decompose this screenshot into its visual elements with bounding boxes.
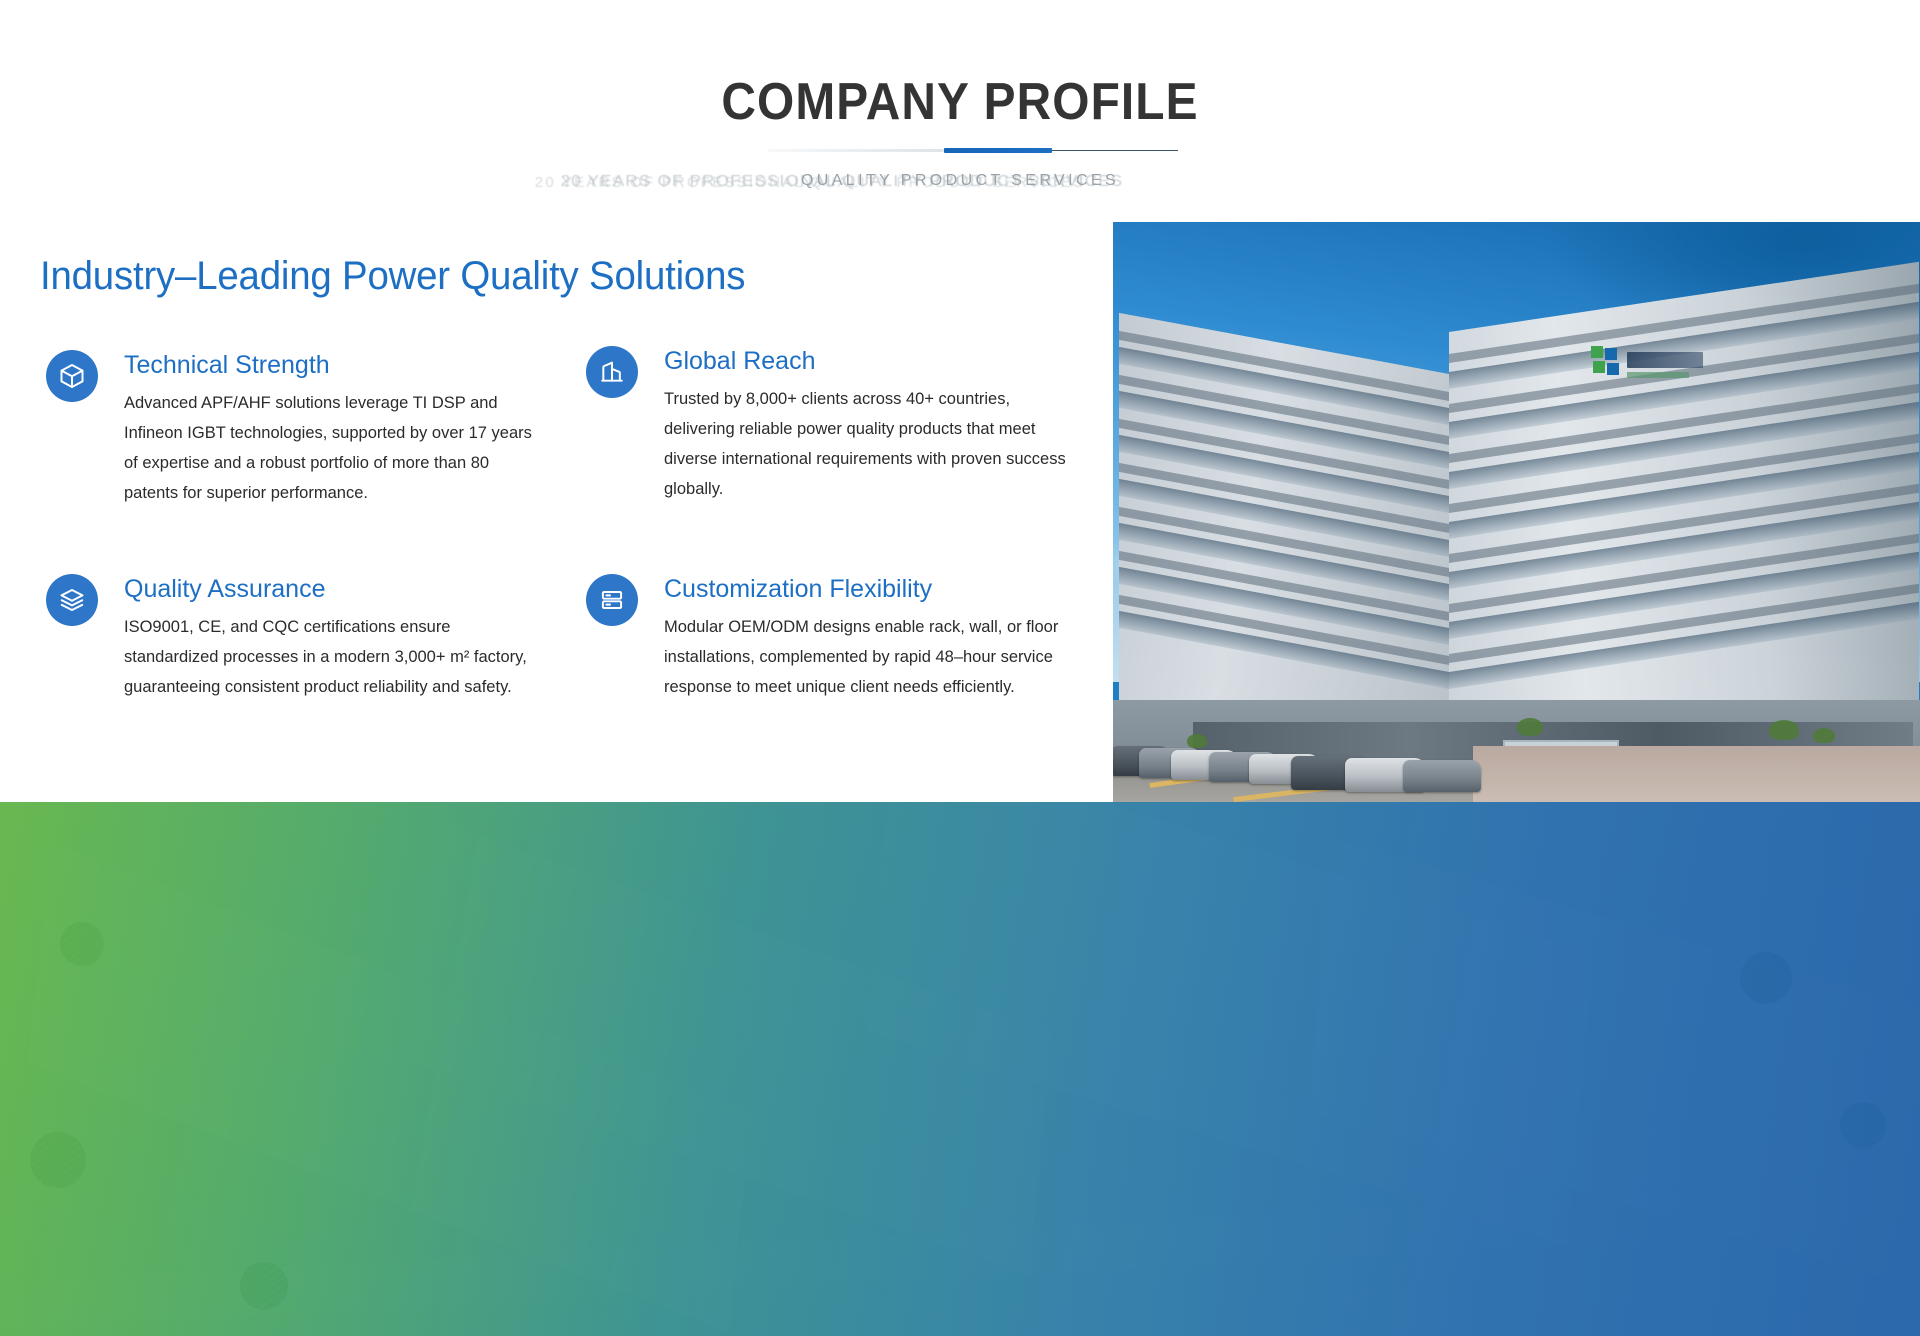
feature-title: Technical Strength — [124, 350, 516, 380]
features-panel: Industry–Leading Power Quality Solutions… — [0, 222, 1113, 802]
company-profile-page: COMPANY PROFILE 20 YEARS OF PROFESSIONAL… — [0, 0, 1920, 1336]
server-rack-icon — [586, 574, 638, 626]
building-mass — [1113, 270, 1920, 790]
company-logo-wordmark — [1627, 352, 1703, 368]
profile-body: Industry–Leading Power Quality Solutions… — [0, 222, 1920, 802]
feature-body: Quality Assurance ISO9001, CE, and CQC c… — [124, 574, 516, 702]
building-icon — [586, 346, 638, 398]
feature-card-quality-assurance: Quality Assurance ISO9001, CE, and CQC c… — [46, 574, 516, 702]
feature-body: Global Reach Trusted by 8,000+ clients a… — [664, 346, 1056, 504]
feature-card-global-reach: Global Reach Trusted by 8,000+ clients a… — [586, 346, 1056, 504]
section-heading: Industry–Leading Power Quality Solutions — [40, 254, 745, 299]
feature-text: ISO9001, CE, and CQC certifications ensu… — [124, 612, 536, 702]
statistics-grid: 17+years Experience 100 Employees 3000+m… — [0, 802, 1920, 1336]
company-logo-subtext — [1627, 372, 1689, 378]
parked-car — [1403, 760, 1481, 792]
feature-card-customization-flexibility: Customization Flexibility Modular OEM/OD… — [586, 574, 1056, 702]
layers-icon — [46, 574, 98, 626]
page-title: COMPANY PROFILE — [77, 72, 1843, 132]
shrub — [1769, 720, 1799, 740]
divider-segment-accent — [944, 148, 1052, 153]
feature-title: Customization Flexibility — [664, 574, 1056, 604]
page-subtitle: QUALITY PRODUCT SERVICES — [0, 172, 1920, 190]
feature-text: Trusted by 8,000+ clients across 40+ cou… — [664, 384, 1076, 504]
title-divider — [768, 148, 1152, 153]
feature-card-technical-strength: Technical Strength Advanced APF/AHF solu… — [46, 350, 516, 508]
plaza-pavement — [1473, 746, 1920, 802]
shrub — [1517, 718, 1543, 736]
feature-title: Quality Assurance — [124, 574, 516, 604]
feature-text: Advanced APF/AHF solutions leverage TI D… — [124, 388, 536, 508]
headquarters-building-photo — [1113, 222, 1920, 802]
feature-text: Modular OEM/ODM designs enable rack, wal… — [664, 612, 1076, 702]
feature-body: Technical Strength Advanced APF/AHF solu… — [124, 350, 516, 508]
shrub — [1813, 728, 1835, 743]
divider-segment-right — [1052, 150, 1178, 151]
feature-body: Customization Flexibility Modular OEM/OD… — [664, 574, 1056, 702]
cube-icon — [46, 350, 98, 402]
page-header: COMPANY PROFILE 20 YEARS OF PROFESSIONAL… — [0, 0, 1920, 222]
building-face-right — [1449, 262, 1919, 772]
company-logo-icon — [1591, 346, 1621, 376]
page-subtitle-group: 20 YEARS OF PROFESSIONAL QUALITY PRODUCT… — [0, 172, 1920, 198]
statistics-banner: 17+years Experience 100 Employees 3000+m… — [0, 802, 1920, 1336]
shrub — [1187, 734, 1207, 748]
divider-segment-left — [768, 149, 944, 152]
feature-title: Global Reach — [664, 346, 1056, 376]
